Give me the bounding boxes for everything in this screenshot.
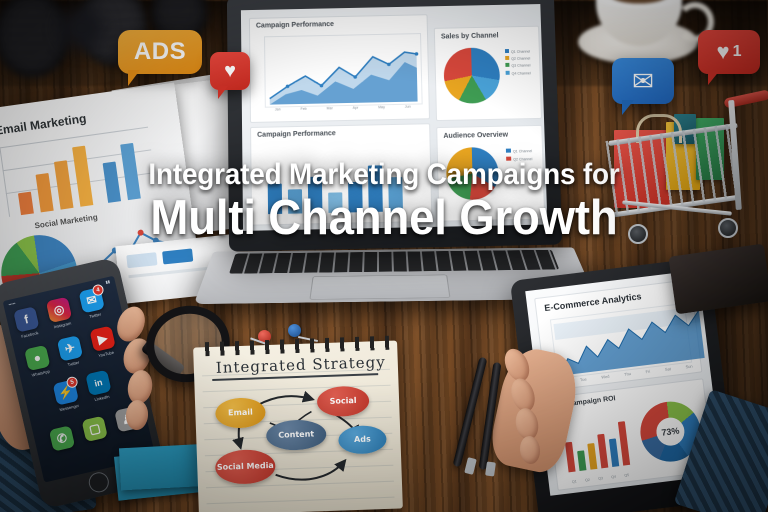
heart-like-badge[interactable]: ♥ 1 bbox=[698, 30, 760, 74]
envelope-icon: ✉ bbox=[632, 66, 654, 97]
ads-badge-tail bbox=[128, 70, 140, 86]
laptop-keyboard[interactable] bbox=[229, 250, 559, 274]
axis-tick: Sat bbox=[665, 366, 672, 372]
heart-icon: ♥ bbox=[717, 39, 730, 65]
axis-tick: Tue bbox=[580, 376, 587, 382]
app-icon-whatsapp[interactable]: ● bbox=[24, 345, 50, 371]
axis-tick: Mar bbox=[327, 106, 333, 110]
heart-badge-small[interactable]: ♥ bbox=[210, 52, 250, 90]
axis-tick: Jan bbox=[275, 107, 281, 111]
axis-tick: Sun bbox=[685, 363, 693, 369]
bar bbox=[565, 442, 576, 473]
status-battery: ▮▮ bbox=[105, 279, 110, 285]
ads-label: ADS bbox=[134, 38, 186, 66]
pushpin-blue-icon bbox=[288, 324, 301, 337]
donut-value: 73% bbox=[661, 426, 680, 438]
axis-tick: Fri bbox=[645, 369, 650, 375]
axis-tick: Q5 bbox=[624, 473, 629, 478]
axis-tick: Q4 bbox=[611, 475, 616, 480]
legend-item: Q4 Channel bbox=[506, 70, 531, 78]
status-carrier: ••••• bbox=[8, 301, 16, 307]
app-icon-messenger[interactable]: ⚡ 5 bbox=[53, 379, 79, 405]
app-icon-youtube[interactable]: ▶ bbox=[89, 326, 115, 352]
axis-tick: May bbox=[378, 105, 385, 109]
node-label: Content bbox=[278, 430, 314, 440]
instagram-icon: ◎ bbox=[52, 302, 65, 318]
node-label: Ads bbox=[354, 435, 371, 444]
headline-line-2: Multi Channel Growth bbox=[27, 190, 741, 246]
youtube-icon: ▶ bbox=[97, 331, 109, 347]
ads-badge[interactable]: ADS bbox=[118, 30, 202, 74]
envelope-badge-tail bbox=[622, 100, 634, 115]
heart-icon: ♥ bbox=[224, 60, 236, 83]
twitter-icon: ✈ bbox=[63, 340, 76, 356]
axis-tick: Wed bbox=[601, 374, 610, 380]
axis bbox=[0, 147, 10, 216]
phone-home-button[interactable] bbox=[87, 470, 111, 494]
axis-tick: Feb bbox=[300, 107, 306, 111]
axis-tick: Thu bbox=[624, 371, 631, 377]
facebook-icon: f bbox=[23, 312, 30, 327]
heart-badge-tail bbox=[218, 86, 228, 99]
card-title: Campaign Performance bbox=[257, 130, 336, 139]
axis-tick: Jun bbox=[405, 105, 411, 109]
legend-item: Q3 Channel bbox=[505, 63, 530, 71]
linkedin-icon: in bbox=[93, 377, 103, 389]
node-label: Social Media bbox=[217, 462, 274, 472]
node-label: Social bbox=[330, 397, 357, 406]
card-title: Sales by Channel bbox=[441, 32, 499, 40]
app-icon-linkedin[interactable]: in bbox=[85, 370, 111, 396]
app-icon-twitter-secondary[interactable]: ✈ bbox=[57, 335, 83, 361]
card-title: Audience Overview bbox=[443, 132, 508, 140]
app-icon-messages[interactable]: ▢ bbox=[82, 416, 108, 442]
axis-tick: Q2 bbox=[585, 478, 590, 483]
axis-tick: Q1 bbox=[572, 479, 577, 484]
app-icon-instagram[interactable]: ◎ bbox=[46, 297, 72, 323]
like-count: 1 bbox=[733, 43, 742, 61]
messages-icon: ▢ bbox=[88, 421, 102, 437]
dashboard-card-campaign-performance[interactable]: Campaign Performance Jan bbox=[249, 14, 430, 123]
laptop-trackpad[interactable] bbox=[309, 275, 450, 300]
paper-title: Email Marketing bbox=[0, 111, 87, 138]
marketing-hero-image: Social Email Marketing Social Marketing bbox=[0, 0, 768, 512]
app-icon-facebook[interactable]: f bbox=[13, 306, 39, 332]
bar bbox=[587, 443, 597, 470]
headline-line-1: Integrated Marketing Campaigns for bbox=[27, 158, 741, 192]
whatsapp-icon: ● bbox=[32, 350, 42, 365]
axis-tick: Q3 bbox=[598, 476, 603, 481]
area-chart bbox=[265, 34, 422, 107]
notebook: Integrated Strategy Email Social Content bbox=[193, 340, 403, 512]
bar bbox=[597, 434, 608, 469]
axis-tick: Apr bbox=[353, 106, 359, 110]
dashboard-card-sales-by-channel[interactable]: Sales by Channel Q1 Channel Q2 Channel Q… bbox=[434, 26, 542, 121]
heart-like-badge-tail bbox=[708, 70, 720, 85]
pie-chart bbox=[443, 47, 500, 104]
card-title: Campaign Performance bbox=[256, 21, 334, 30]
envelope-badge[interactable]: ✉ bbox=[612, 58, 674, 104]
phone-icon: ✆ bbox=[56, 431, 69, 447]
app-icon-twitter[interactable]: ✉ 4 bbox=[78, 287, 104, 313]
app-icon-phone[interactable]: ✆ bbox=[49, 425, 75, 451]
bar bbox=[609, 438, 619, 467]
bar bbox=[618, 421, 630, 466]
bar bbox=[577, 450, 586, 471]
node-label: Email bbox=[228, 408, 253, 417]
